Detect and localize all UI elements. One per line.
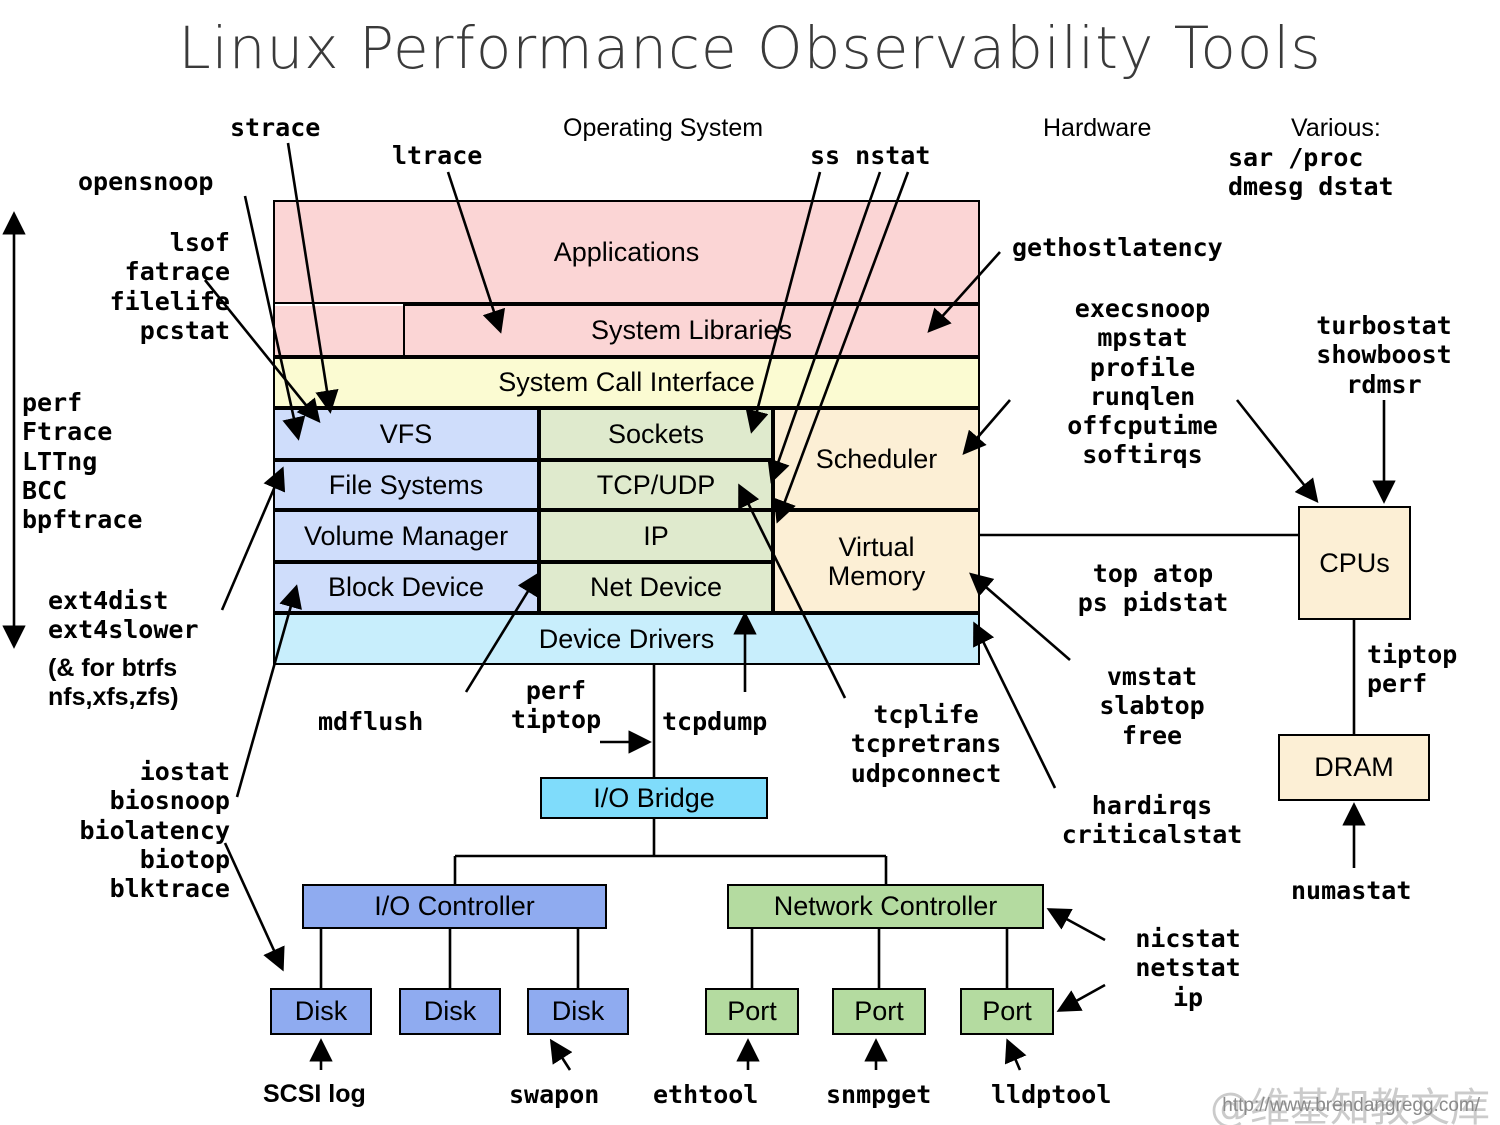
- label-volume-manager: Volume Manager: [304, 522, 508, 550]
- label-file-systems: File Systems: [329, 471, 484, 499]
- box-port-1[interactable]: Port: [705, 988, 799, 1035]
- tool-label-ext4-group: ext4dist ext4slower: [48, 586, 199, 645]
- label-ip: IP: [643, 522, 669, 550]
- tool-label-vmstat-group: vmstat slabtop free: [1074, 662, 1230, 750]
- label-virtual-memory: Virtual Memory: [828, 533, 926, 590]
- box-port-2[interactable]: Port: [832, 988, 926, 1035]
- box-system-call-interface[interactable]: System Call Interface: [273, 357, 980, 408]
- box-ip[interactable]: IP: [539, 510, 773, 562]
- tool-label-ltrace: ltrace: [392, 141, 482, 170]
- page-title: Linux Performance Observability Tools: [0, 14, 1500, 82]
- label-net-device: Net Device: [590, 573, 722, 601]
- label-disk-3: Disk: [552, 997, 605, 1025]
- tool-label-tcpdump: tcpdump: [662, 707, 767, 736]
- label-sockets: Sockets: [608, 420, 704, 448]
- tool-label-strace: strace: [230, 113, 320, 142]
- box-tcp-udp[interactable]: TCP/UDP: [539, 460, 773, 510]
- label-tcp-udp: TCP/UDP: [597, 471, 716, 499]
- arrow-nicstat-netctrl: [1050, 910, 1105, 940]
- box-disk-1[interactable]: Disk: [270, 988, 372, 1035]
- label-device-drivers: Device Drivers: [539, 625, 715, 653]
- label-port-1: Port: [727, 997, 777, 1025]
- tool-label-snmpget: snmpget: [826, 1080, 931, 1109]
- label-system-call-interface: System Call Interface: [498, 368, 755, 396]
- box-disk-2[interactable]: Disk: [399, 988, 501, 1035]
- tool-label-gethostlatency: gethostlatency: [1012, 233, 1223, 262]
- box-io-bridge[interactable]: I/O Bridge: [540, 777, 768, 819]
- arrow-swapon: [552, 1042, 570, 1070]
- tool-label-tiptop-perf: tiptop perf: [1367, 640, 1457, 699]
- box-device-drivers[interactable]: Device Drivers: [273, 613, 980, 665]
- box-vfs[interactable]: VFS: [273, 408, 539, 460]
- line-ioctrl-disks: [321, 929, 578, 988]
- arrow-nicstat-port: [1060, 985, 1105, 1010]
- label-io-controller: I/O Controller: [374, 892, 535, 920]
- caption-operating-system: Operating System: [563, 114, 763, 143]
- box-net-device[interactable]: Net Device: [539, 562, 773, 613]
- tool-label-swapon: swapon: [509, 1080, 599, 1109]
- label-disk-1: Disk: [295, 997, 348, 1025]
- arrow-io-group-disk: [225, 843, 282, 968]
- box-volume-manager[interactable]: Volume Manager: [273, 510, 539, 562]
- box-port-3[interactable]: Port: [960, 988, 1054, 1035]
- box-dram[interactable]: DRAM: [1278, 734, 1430, 801]
- tool-label-perf-tiptop: perf tiptop: [478, 676, 634, 735]
- tool-label-numastat: numastat: [1291, 876, 1411, 905]
- label-dram: DRAM: [1314, 753, 1394, 781]
- tool-label-io-group: iostat biosnoop biolatency biotop blktra…: [0, 757, 230, 903]
- box-io-controller[interactable]: I/O Controller: [302, 884, 607, 929]
- box-virtual-memory[interactable]: Virtual Memory: [773, 510, 980, 613]
- box-cpus[interactable]: CPUs: [1298, 506, 1411, 620]
- tool-label-tracers: perf Ftrace LTTng BCC bpftrace: [22, 388, 142, 534]
- line-bridge-controllers: [455, 819, 886, 884]
- label-vfs: VFS: [380, 420, 433, 448]
- label-network-controller: Network Controller: [774, 892, 998, 920]
- arrow-lldptool: [1008, 1042, 1020, 1070]
- tool-label-mdflush: mdflush: [318, 707, 423, 736]
- box-sockets[interactable]: Sockets: [539, 408, 773, 460]
- applications-band-outline: [273, 200, 980, 357]
- box-block-device[interactable]: Block Device: [273, 562, 539, 613]
- label-scheduler: Scheduler: [816, 445, 938, 473]
- tool-label-hardirqs-group: hardirqs criticalstat: [1017, 791, 1287, 850]
- tool-label-ethtool: ethtool: [653, 1080, 758, 1109]
- tool-label-opensnoop: opensnoop: [78, 167, 213, 196]
- tool-label-various-tools: sar /proc dmesg dstat: [1228, 143, 1394, 202]
- label-cpus: CPUs: [1319, 549, 1390, 577]
- box-network-controller[interactable]: Network Controller: [727, 884, 1044, 929]
- diagram-canvas: Linux Performance Observability Tools Op…: [0, 0, 1500, 1125]
- box-file-systems[interactable]: File Systems: [273, 460, 539, 510]
- tool-label-turbostat-group: turbostat showboost rdmsr: [1288, 311, 1480, 399]
- tool-label-nicstat-group: nicstat netstat ip: [1112, 924, 1264, 1012]
- tool-label-top-group: top atop ps pidstat: [1047, 559, 1259, 618]
- line-netctrl-ports: [752, 929, 1007, 988]
- box-disk-3[interactable]: Disk: [527, 988, 629, 1035]
- label-block-device: Block Device: [328, 573, 484, 601]
- box-scheduler[interactable]: Scheduler: [773, 408, 980, 510]
- caption-hardware: Hardware: [1043, 114, 1151, 143]
- label-port-3: Port: [982, 997, 1032, 1025]
- caption-various: Various:: [1291, 114, 1381, 143]
- tool-label-ext4-note: (& for btrfs nfs,xfs,zfs): [48, 654, 179, 713]
- tool-label-ss-nstat: ss nstat: [810, 141, 930, 170]
- tool-label-cpu-group: execsnoop mpstat profile runqlen offcput…: [1020, 294, 1265, 470]
- tool-label-file-group: lsof fatrace filelife pcstat: [0, 228, 230, 345]
- watermark-text: @维基知教文库: [1210, 1075, 1490, 1125]
- tool-label-tcp-group: tcplife tcpretrans udpconnect: [822, 700, 1030, 788]
- tool-label-scsi-log: SCSI log: [263, 1080, 366, 1109]
- label-io-bridge: I/O Bridge: [593, 784, 715, 812]
- label-disk-2: Disk: [424, 997, 477, 1025]
- label-port-2: Port: [854, 997, 904, 1025]
